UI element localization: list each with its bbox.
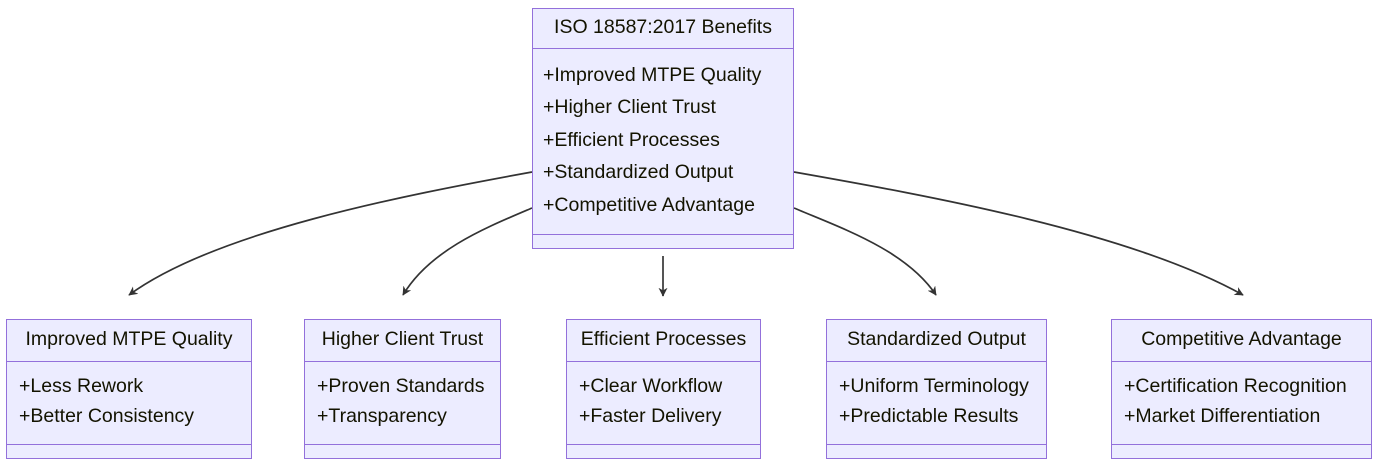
class-node-members: +Uniform Terminology +Predictable Result… [827,362,1046,445]
class-member: +Faster Delivery [579,402,748,433]
class-member: +Proven Standards [317,372,488,403]
class-node-title: Competitive Advantage [1112,320,1371,362]
class-member: +Transparency [317,402,488,433]
diagram-canvas: ISO 18587:2017 Benefits +Improved MTPE Q… [0,0,1379,475]
class-node-standardized-output[interactable]: Standardized Output +Uniform Terminology… [826,319,1047,459]
class-node-members: +Improved MTPE Quality +Higher Client Tr… [533,49,793,236]
class-member: +Uniform Terminology [839,372,1034,403]
class-node-title: Improved MTPE Quality [7,320,251,362]
class-node-members: +Clear Workflow +Faster Delivery [567,362,760,445]
edge-root-to-standardized-output [794,208,936,295]
class-member: +Predictable Results [839,402,1034,433]
class-node-improved-mtpe-quality[interactable]: Improved MTPE Quality +Less Rework +Bett… [6,319,252,459]
class-node-members: +Less Rework +Better Consistency [7,362,251,445]
class-node-methods [1112,445,1371,458]
class-member: +Efficient Processes [543,125,783,158]
class-member: +Market Differentiation [1124,402,1359,433]
edge-root-to-higher-client-trust [403,208,532,295]
class-node-title: Higher Client Trust [305,320,500,362]
class-node-higher-client-trust[interactable]: Higher Client Trust +Proven Standards +T… [304,319,501,459]
edge-root-to-competitive-advantage [794,172,1243,295]
class-member: +Certification Recognition [1124,372,1359,403]
class-member: +Less Rework [19,372,239,403]
class-node-competitive-advantage[interactable]: Competitive Advantage +Certification Rec… [1111,319,1372,459]
class-node-methods [533,235,793,248]
class-member: +Improved MTPE Quality [543,60,783,93]
class-node-members: +Certification Recognition +Market Diffe… [1112,362,1371,445]
edge-root-to-improved-mtpe-quality [129,172,532,295]
class-node-methods [827,445,1046,458]
class-member: +Competitive Advantage [543,190,783,223]
class-member: +Higher Client Trust [543,92,783,125]
class-node-efficient-processes[interactable]: Efficient Processes +Clear Workflow +Fas… [566,319,761,459]
class-node-methods [305,445,500,458]
class-node-title: ISO 18587:2017 Benefits [533,9,793,49]
class-member: +Clear Workflow [579,372,748,403]
class-node-methods [567,445,760,458]
class-node-members: +Proven Standards +Transparency [305,362,500,445]
class-member: +Standardized Output [543,157,783,190]
class-node-title: Efficient Processes [567,320,760,362]
class-node-methods [7,445,251,458]
class-node-title: Standardized Output [827,320,1046,362]
class-node-iso-18587-2017-benefits[interactable]: ISO 18587:2017 Benefits +Improved MTPE Q… [532,8,794,249]
class-member: +Better Consistency [19,402,239,433]
